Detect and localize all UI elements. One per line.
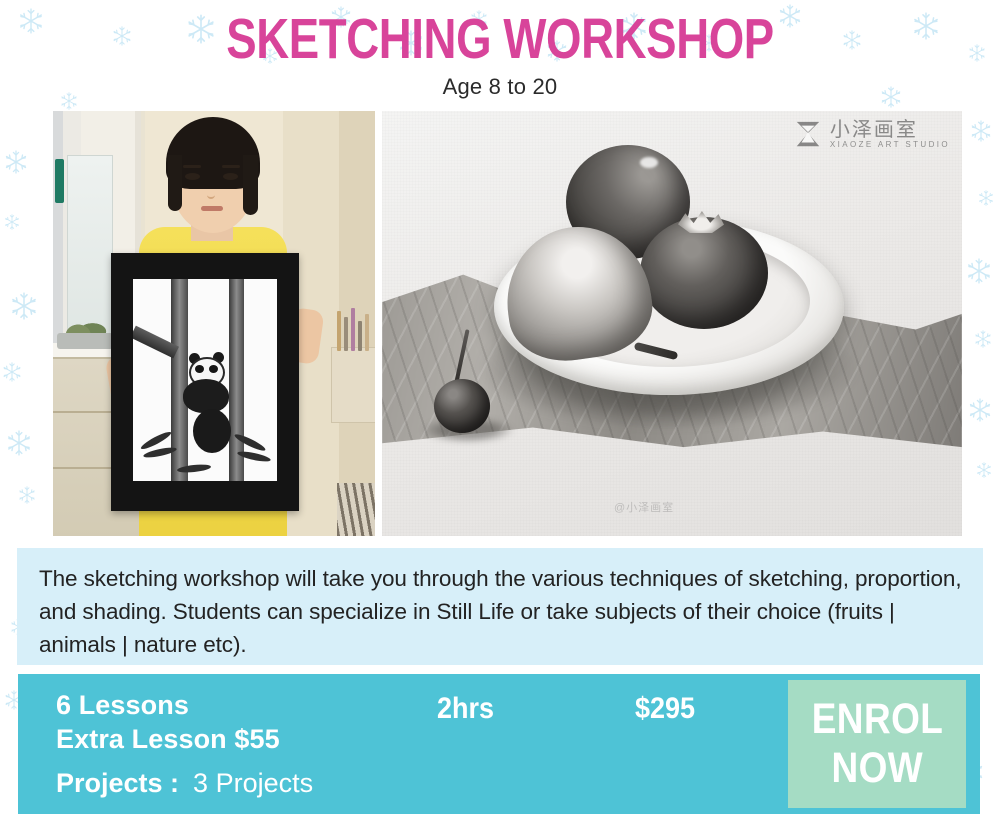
panda-drawing [133, 279, 277, 481]
watermark-chinese: 小泽画室 [830, 119, 950, 140]
still-life-photo: 小泽画室 XIAOZE ART STUDIO @小泽画室 [382, 111, 962, 536]
course-price: $295 [635, 692, 695, 726]
eye-left [185, 173, 200, 180]
lessons-count: 6 Lessons [56, 690, 189, 721]
eyebrow-right [222, 165, 240, 168]
pricing-bar: 6 Lessons Extra Lesson $55 Projects : 3 … [18, 674, 980, 814]
mouth [201, 206, 223, 211]
hourglass-logo-icon [793, 119, 823, 149]
snowflake-icon [966, 258, 992, 284]
studio-watermark: 小泽画室 XIAOZE ART STUDIO [793, 119, 950, 150]
snowflake-icon [978, 190, 994, 206]
panda-body [183, 379, 229, 413]
weibo-watermark: @小泽画室 [614, 499, 674, 515]
snowflake-icon [2, 362, 22, 382]
description-text: The sketching workshop will take you thr… [39, 562, 963, 661]
projects-value: 3 Projects [193, 768, 313, 799]
flyer-canvas: SKETCHING WORKSHOP Age 8 to 20 [0, 0, 1000, 820]
snowflake-icon [970, 120, 992, 142]
projects-label: Projects : [56, 768, 179, 799]
enrol-now-button[interactable]: ENROL NOW [788, 680, 966, 808]
page-title: SKETCHING WORKSHOP [100, 6, 900, 72]
snowflake-icon [968, 398, 992, 422]
lesson-duration: 2hrs [437, 692, 494, 726]
panda-belly [193, 409, 231, 453]
panda-eye [195, 365, 204, 373]
enrol-button-line2: NOW [831, 745, 923, 792]
green-bottle [55, 159, 64, 203]
snowflake-icon [976, 462, 992, 478]
pencil-box [337, 483, 375, 536]
panda-eye [209, 365, 218, 373]
artwork-paper [133, 279, 277, 481]
snowflake-icon [4, 150, 28, 174]
snowflake-icon [6, 430, 32, 456]
eye-right [223, 173, 238, 180]
brushes [335, 307, 373, 351]
description-panel: The sketching workshop will take you thr… [17, 548, 983, 665]
watermark-english: XIAOZE ART STUDIO [830, 140, 950, 150]
student-photo [53, 111, 375, 536]
extra-lesson-price: Extra Lesson $55 [56, 724, 280, 755]
snowflake-icon [974, 330, 992, 348]
snowflake-icon [18, 486, 36, 504]
eyebrow-left [183, 165, 201, 168]
photo-gallery: 小泽画室 XIAOZE ART STUDIO @小泽画室 [53, 111, 962, 536]
persimmon [640, 217, 768, 329]
brush-pot [331, 347, 375, 423]
projects-row: Projects : 3 Projects [56, 768, 313, 799]
age-range-subtitle: Age 8 to 20 [0, 74, 1000, 100]
nose [207, 187, 215, 199]
snowflake-icon [4, 214, 20, 230]
sink [57, 333, 113, 349]
snowflake-icon [10, 292, 38, 320]
cherry [434, 379, 490, 433]
artwork-frame [111, 253, 299, 511]
header: SKETCHING WORKSHOP Age 8 to 20 [0, 0, 1000, 108]
enrol-button-line1: ENROL [811, 696, 943, 743]
